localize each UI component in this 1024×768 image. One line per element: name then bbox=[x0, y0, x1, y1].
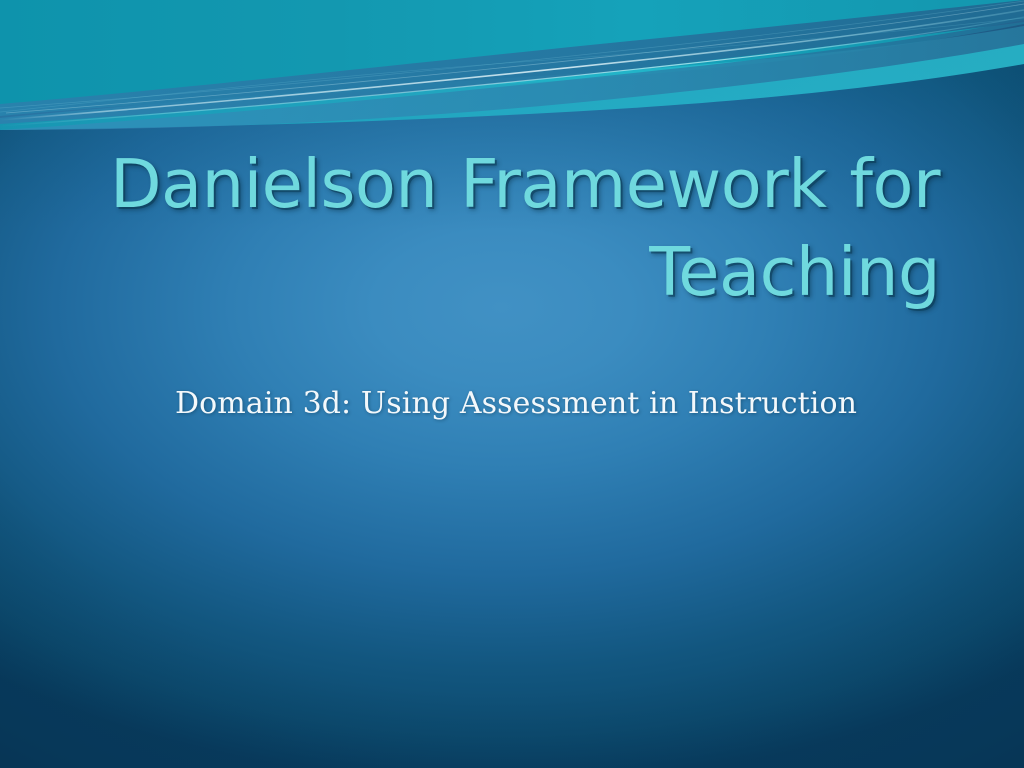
decorative-wave-graphic bbox=[0, 0, 1024, 130]
slide-subtitle-placeholder: Domain 3d: Using Assessment in Instructi… bbox=[92, 385, 940, 423]
slide-title: Danielson Framework for Teaching bbox=[92, 140, 940, 317]
slide-subtitle: Domain 3d: Using Assessment in Instructi… bbox=[92, 385, 940, 423]
slide-title-placeholder: Danielson Framework for Teaching bbox=[92, 140, 940, 317]
presentation-slide: Danielson Framework for Teaching Domain … bbox=[0, 0, 1024, 768]
